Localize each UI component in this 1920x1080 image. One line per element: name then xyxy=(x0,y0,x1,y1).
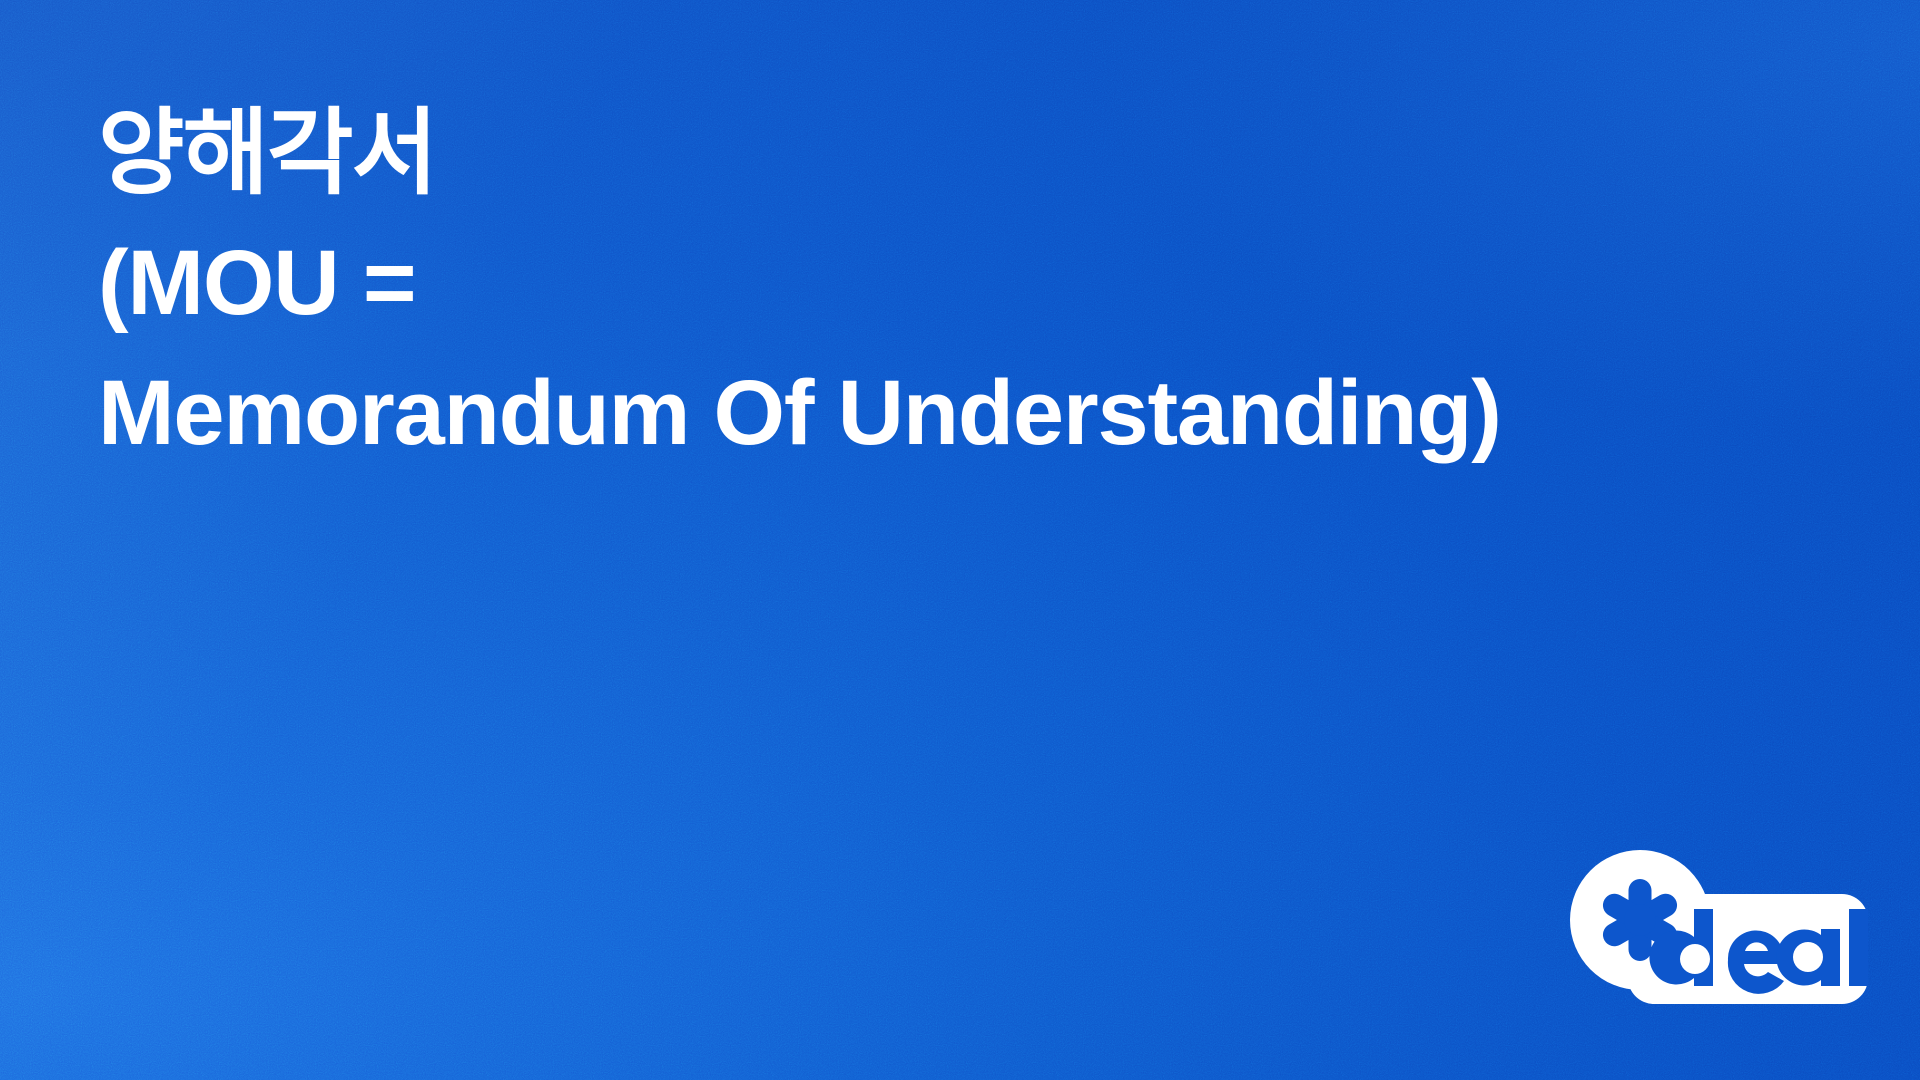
title-line-korean: 양해각서 xyxy=(98,88,1858,218)
title-line-abbreviation: (MOU = xyxy=(98,218,1858,348)
page-title: 양해각서 (MOU = Memorandum Of Understanding) xyxy=(98,88,1858,478)
deal-logo[interactable] xyxy=(1568,850,1868,1022)
title-slide: 양해각서 (MOU = Memorandum Of Understanding) xyxy=(0,0,1920,1080)
title-line-expansion: Memorandum Of Understanding) xyxy=(98,348,1858,478)
